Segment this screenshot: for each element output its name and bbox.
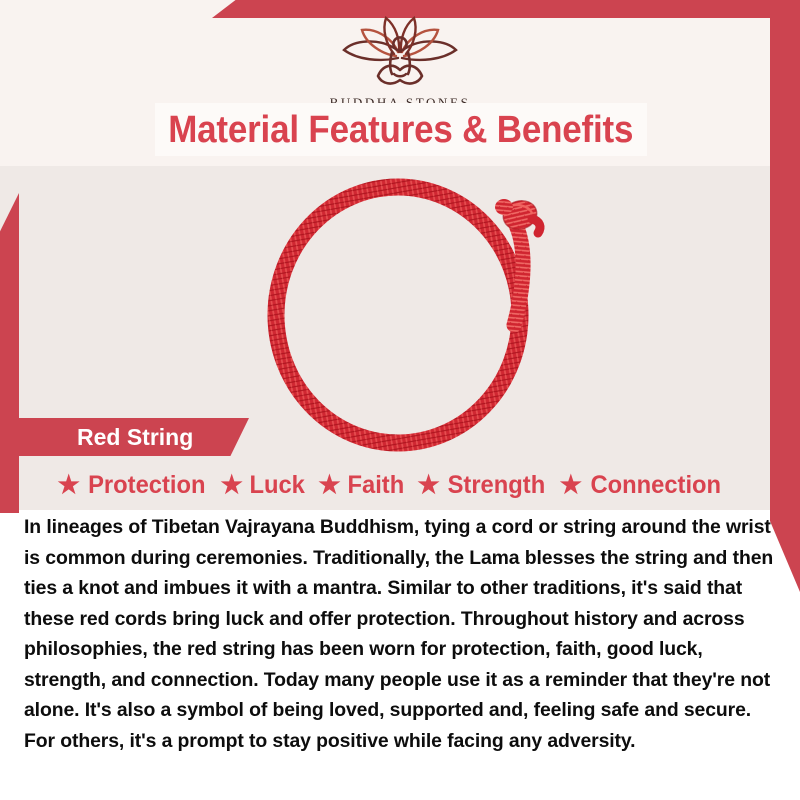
poster-canvas: BUDDHA STONES Material Features & Benefi… xyxy=(0,0,800,800)
feature-label: Faith xyxy=(347,471,404,500)
feature-label: Strength xyxy=(447,471,545,500)
star-icon: ★ xyxy=(417,473,439,498)
features-row: ★ Protection ★ Luck ★ Faith ★ Strength ★… xyxy=(20,467,762,503)
feature-connection: ★ Connection xyxy=(554,471,731,500)
product-image-red-string-bracelet xyxy=(252,163,572,463)
feature-label: Connection xyxy=(590,471,721,500)
lotus-meditation-figure-icon xyxy=(320,14,480,92)
star-icon: ★ xyxy=(221,473,243,498)
product-label-text: Red String xyxy=(77,424,193,451)
product-label-banner: Red String xyxy=(17,418,249,456)
brand-logo: BUDDHA STONES xyxy=(0,14,800,111)
feature-label: Luck xyxy=(249,471,304,500)
decorative-left-red-bar xyxy=(0,193,19,513)
page-title: Material Features & Benefits xyxy=(168,111,633,149)
feature-strength: ★ Strength xyxy=(411,471,553,500)
feature-luck: ★ Luck xyxy=(215,471,313,500)
star-icon: ★ xyxy=(560,473,582,498)
title-banner: Material Features & Benefits xyxy=(155,103,647,156)
feature-label: Protection xyxy=(88,471,205,500)
feature-protection: ★ Protection xyxy=(51,471,214,500)
feature-faith: ★ Faith xyxy=(312,471,411,500)
description-paragraph: In lineages of Tibetan Vajrayana Buddhis… xyxy=(24,512,776,756)
star-icon: ★ xyxy=(318,473,340,498)
star-icon: ★ xyxy=(57,473,79,498)
